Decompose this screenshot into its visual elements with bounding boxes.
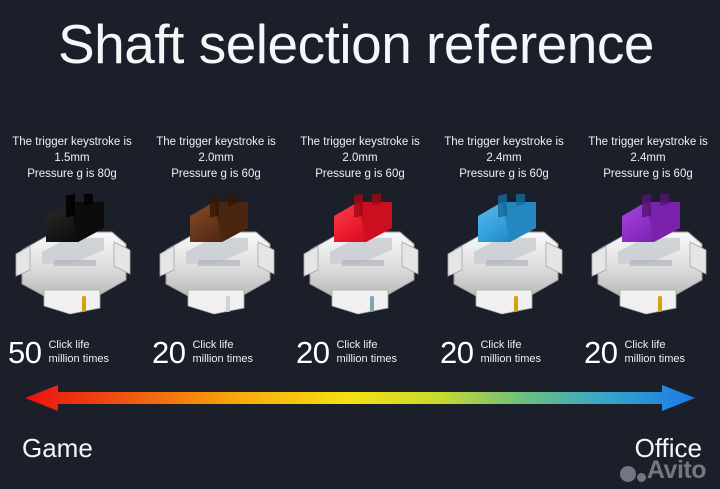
avito-dot-large	[620, 466, 636, 482]
keystroke-label: The trigger keystroke is	[577, 134, 719, 150]
brown-switch	[144, 190, 288, 320]
click-life-label: Click life million times	[48, 336, 109, 366]
pressure-value: Pressure g is 60g	[145, 166, 287, 182]
red-switch-icon	[296, 194, 424, 316]
blue-switch-icon	[440, 194, 568, 316]
label-game: Game	[22, 432, 93, 464]
click-life-number: 20	[296, 336, 329, 370]
spectrum-arrow-bar	[0, 384, 720, 420]
page-title: Shaft selection reference	[58, 14, 678, 74]
keystroke-value: 2.4mm	[433, 150, 575, 166]
click-life-label: Click life million times	[192, 336, 253, 366]
pressure-value: Pressure g is 60g	[433, 166, 575, 182]
click-life-line1: Click life	[624, 339, 685, 353]
click-life-row: 50 Click life million times 20 Click lif…	[0, 336, 720, 380]
click-life-label: Click life million times	[336, 336, 397, 366]
label-office: Office	[635, 432, 702, 464]
pressure-value: Pressure g is 60g	[289, 166, 431, 182]
click-life-blue: 20 Click life million times	[432, 336, 576, 380]
click-life-line1: Click life	[480, 339, 541, 353]
pressure-value: Pressure g is 80g	[1, 166, 143, 182]
click-life-line2: million times	[624, 353, 685, 367]
click-life-line2: million times	[192, 353, 253, 367]
keystroke-label: The trigger keystroke is	[145, 134, 287, 150]
click-life-line2: million times	[336, 353, 397, 367]
double-arrow-icon	[0, 384, 720, 420]
click-life-label: Click life million times	[480, 336, 541, 366]
spec-text-blue: The trigger keystroke is 2.4mm Pressure …	[433, 128, 575, 182]
click-life-red: 20 Click life million times	[288, 336, 432, 380]
red-switch	[288, 190, 432, 320]
spec-text-purple: The trigger keystroke is 2.4mm Pressure …	[577, 128, 719, 182]
black-switch	[0, 190, 144, 320]
keystroke-value: 2.4mm	[577, 150, 719, 166]
blue-switch	[432, 190, 576, 320]
spec-text-brown: The trigger keystroke is 2.0mm Pressure …	[145, 128, 287, 182]
click-life-line2: million times	[480, 353, 541, 367]
keystroke-value: 2.0mm	[289, 150, 431, 166]
purple-switch-icon	[584, 194, 712, 316]
pressure-value: Pressure g is 60g	[577, 166, 719, 182]
purple-switch	[576, 190, 720, 320]
click-life-purple: 20 Click life million times	[576, 336, 720, 380]
shaft-selection-infographic: Shaft selection reference The trigger ke…	[0, 0, 720, 489]
keystroke-value: 1.5mm	[1, 150, 143, 166]
click-life-line1: Click life	[192, 339, 253, 353]
spec-text-red: The trigger keystroke is 2.0mm Pressure …	[289, 128, 431, 182]
brown-switch-icon	[152, 194, 280, 316]
keystroke-label: The trigger keystroke is	[289, 134, 431, 150]
avito-dot-small	[637, 473, 646, 482]
click-life-line2: million times	[48, 353, 109, 367]
keystroke-label: The trigger keystroke is	[433, 134, 575, 150]
click-life-line1: Click life	[336, 339, 397, 353]
keystroke-value: 2.0mm	[145, 150, 287, 166]
spec-text-black: The trigger keystroke is 1.5mm Pressure …	[1, 128, 143, 182]
click-life-number: 20	[152, 336, 185, 370]
click-life-brown: 20 Click life million times	[144, 336, 288, 380]
black-switch-icon	[8, 194, 136, 316]
click-life-label: Click life million times	[624, 336, 685, 366]
click-life-number: 20	[440, 336, 473, 370]
keystroke-label: The trigger keystroke is	[1, 134, 143, 150]
click-life-number: 50	[8, 336, 41, 370]
click-life-line1: Click life	[48, 339, 109, 353]
click-life-black: 50 Click life million times	[0, 336, 144, 380]
click-life-number: 20	[584, 336, 617, 370]
